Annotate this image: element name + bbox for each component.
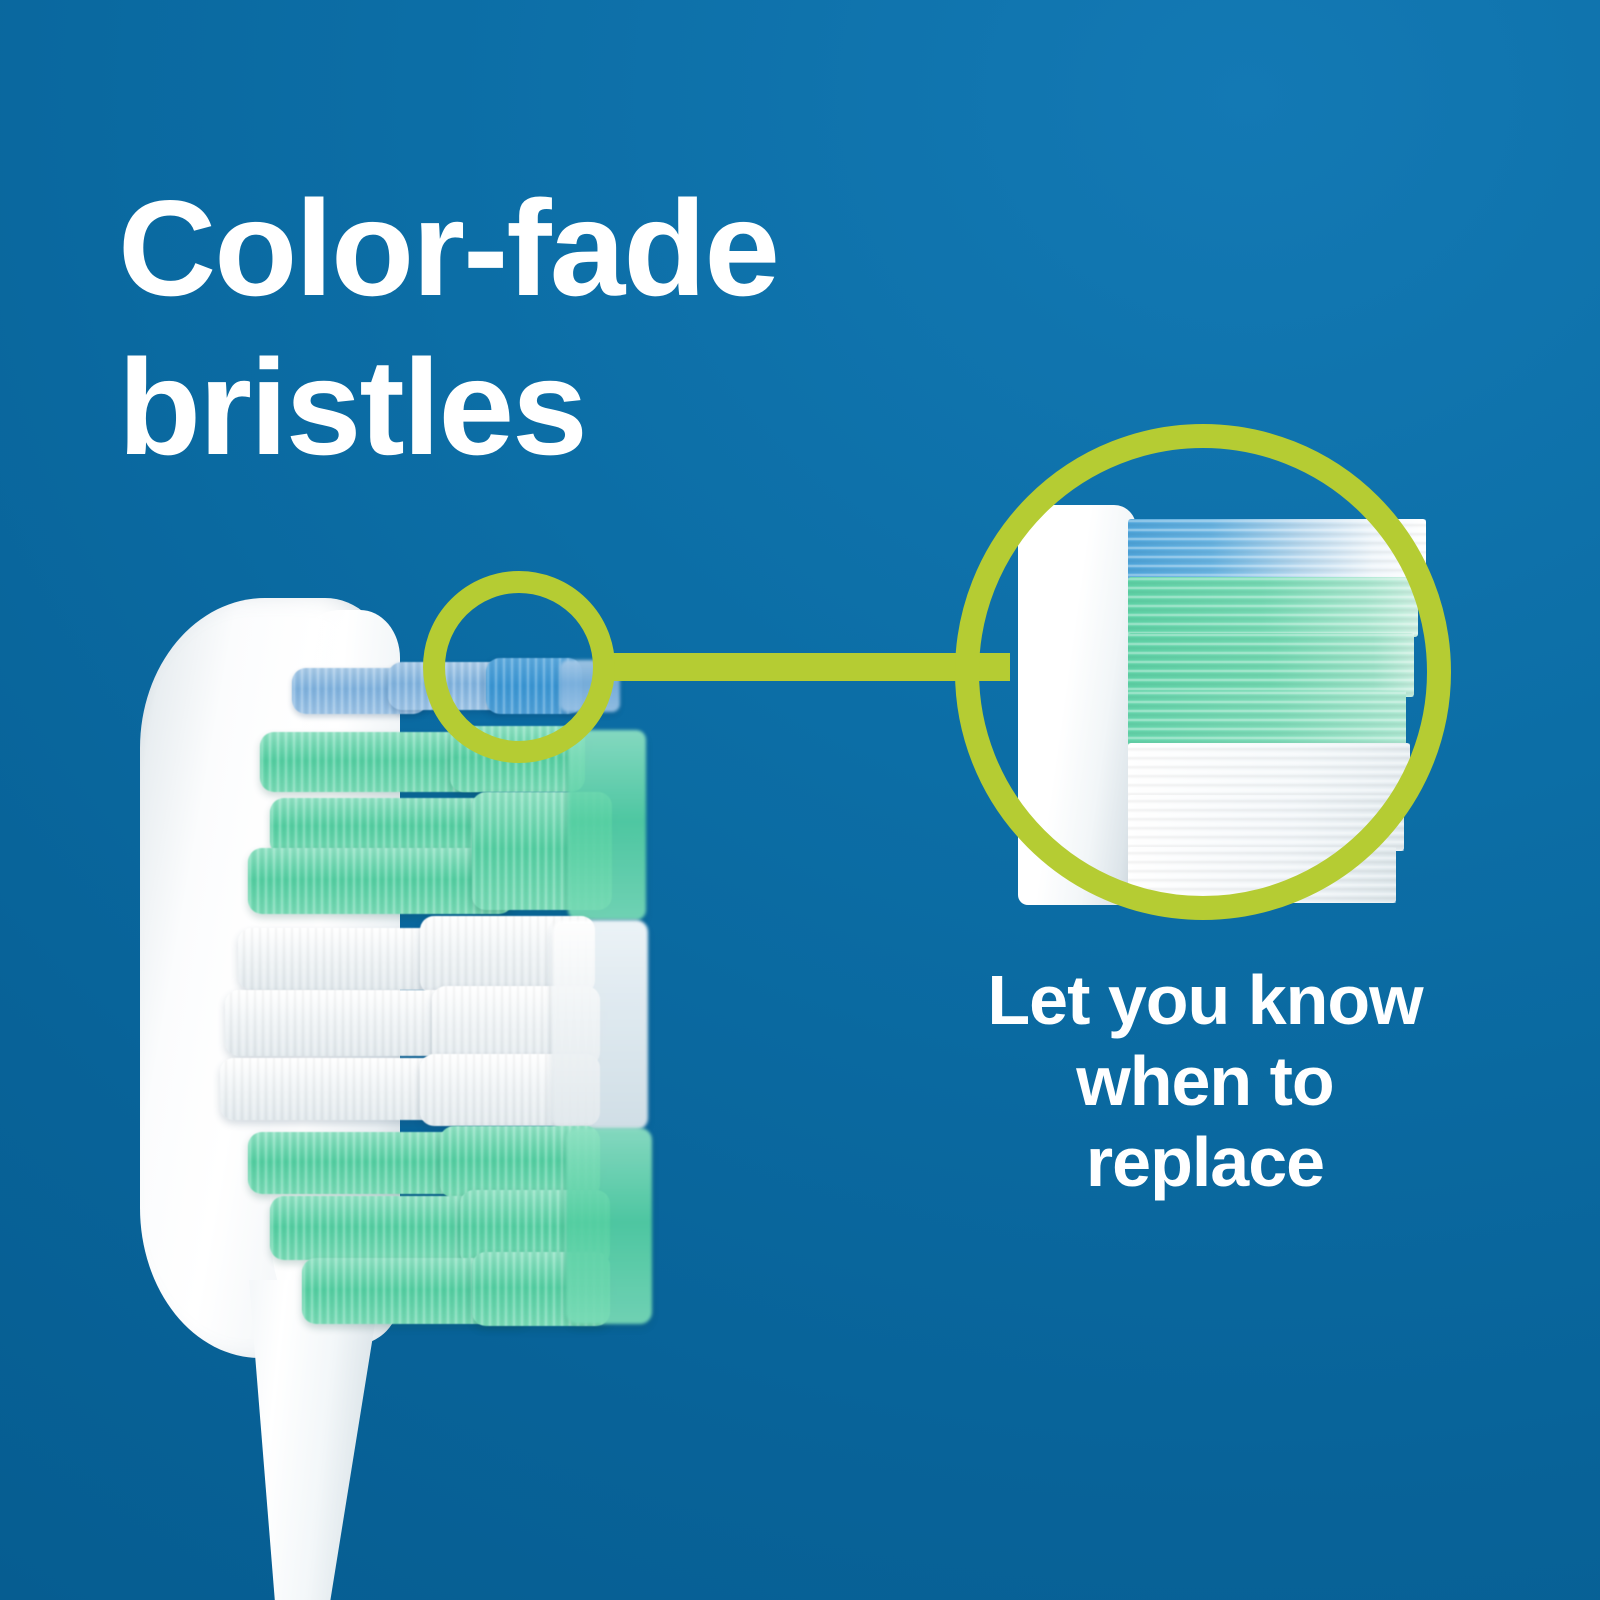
bristle-tuft-mint: [450, 726, 585, 792]
bristle-fray-mint: [566, 1128, 652, 1324]
magnified-band-white: [1128, 847, 1396, 903]
product-feature-card: Color-fade bristles: [0, 0, 1600, 1600]
caption-line-3: replace: [905, 1122, 1505, 1203]
caption-line-1: Let you know: [905, 960, 1505, 1041]
magnified-band-white: [1128, 795, 1404, 851]
bristle-fray-mint: [568, 730, 646, 920]
caption-line-2: when to: [905, 1041, 1505, 1122]
magnified-brush-head-body: [1018, 505, 1136, 905]
page-title: Color-fade bristles: [118, 169, 1218, 487]
magnified-band-mint: [1128, 577, 1418, 637]
magnified-band-white: [1128, 743, 1410, 799]
magnified-band-mint: [1128, 691, 1406, 747]
bristle-fray-blue: [560, 660, 620, 712]
magnified-band-blue-faded: [1128, 519, 1426, 583]
toothbrush-front-view: [120, 580, 680, 1600]
feature-caption: Let you know when to replace: [905, 960, 1505, 1204]
magnified-toothbrush-side-view: [1018, 505, 1438, 905]
bristle-fray-white: [552, 920, 648, 1130]
magnified-band-mint: [1128, 633, 1414, 697]
